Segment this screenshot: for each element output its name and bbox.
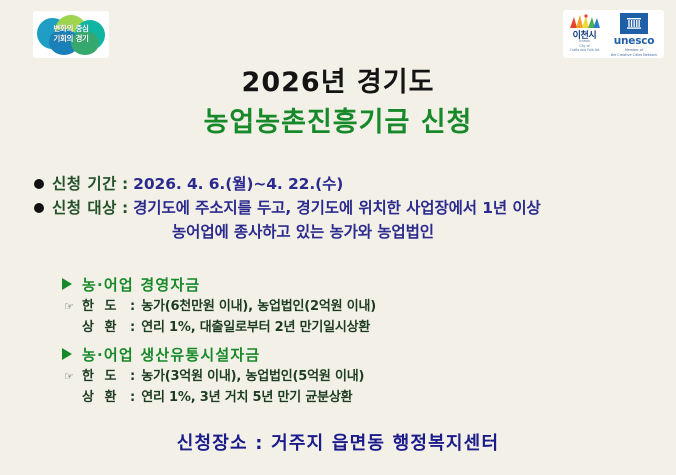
pointing-hand-icon: ☞ xyxy=(64,366,82,387)
fund-heading-management-capital: 농·어업 경영자금 xyxy=(62,272,662,296)
fund-line-repayment: 상 환 : 연리 1%, 대출일로부터 2년 만기일시상환 xyxy=(62,317,662,338)
fund-line-key: 상 환 xyxy=(82,317,130,338)
fund-line-limit: ☞ 한 도 : 농가(3억원 이내), 농업법인(5억원 이내) xyxy=(62,366,662,387)
fund-line-colon: : xyxy=(130,387,141,408)
bullet-value-continuation: 농어업에 종사하고 있는 농가와 농업법인 xyxy=(34,220,654,244)
unesco-subtitle: Member of the Creative Cities Network xyxy=(606,48,662,57)
fund-line-colon: : xyxy=(130,366,141,387)
fund-line-value: 연리 1%, 3년 거치 5년 만기 균분상환 xyxy=(141,387,352,408)
bullet-value: 경기도에 주소지를 두고, 경기도에 위치한 사업장에서 1년 이상 xyxy=(133,196,541,220)
bullet-separator: : xyxy=(117,196,133,220)
fund-line-limit: ☞ 한 도 : 농가(6천만원 이내), 농업법인(2억원 이내) xyxy=(62,296,662,317)
bullet-dot-icon xyxy=(34,179,44,189)
unesco-wordmark: unesco xyxy=(606,35,662,47)
fund-line-key: 한 도 xyxy=(82,366,130,387)
bullet-label: 신청 기간 xyxy=(52,172,117,196)
application-location-footer: 신청장소 : 거주지 읍면동 행정복지센터 xyxy=(0,429,676,455)
bullet-value: 2026. 4. 6.(월)~4. 22.(수) xyxy=(133,172,343,196)
bullet-label: 신청 대상 xyxy=(52,196,117,220)
unesco-sub-line2: the Creative Cities Network xyxy=(606,53,662,58)
poster-canvas: 변화의 중심 기회의 경기 이천시 Icheon City of Crafts … xyxy=(0,0,676,475)
triangle-right-icon xyxy=(62,278,72,290)
fund-sections: 농·어업 경영자금 ☞ 한 도 : 농가(6천만원 이내), 농업법인(2억원 … xyxy=(62,272,662,408)
unesco-logo: unesco Member of the Creative Cities Net… xyxy=(606,10,662,58)
gyeonggi-logo-text: 변화의 중심 기회의 경기 xyxy=(33,24,109,43)
gyeonggi-logo-line2: 기회의 경기 xyxy=(33,34,109,44)
poster-title-line2: 농업농촌진흥기금 신청 xyxy=(0,100,676,139)
fund-line-value: 농가(6천만원 이내), 농업법인(2억원 이내) xyxy=(141,296,376,317)
poster-title-line1: 2026년 경기도 xyxy=(0,60,676,99)
bullet-item-eligibility: 신청 대상 : 경기도에 주소지를 두고, 경기도에 위치한 사업장에서 1년 … xyxy=(34,196,654,220)
fund-heading-label: 농·어업 경영자금 xyxy=(82,274,200,295)
bullet-dot-icon xyxy=(34,203,44,213)
pointing-hand-icon: ☞ xyxy=(64,296,82,317)
right-logo-group: 이천시 Icheon City of Crafts and Folk Art xyxy=(563,10,664,58)
icheon-sub-line3: Crafts and Folk Art xyxy=(563,48,606,53)
fund-line-value: 연리 1%, 대출일로부터 2년 만기일시상환 xyxy=(141,317,370,338)
gyeonggi-logo-line1: 변화의 중심 xyxy=(33,24,109,34)
fund-heading-label: 농·어업 생산유통시설자금 xyxy=(82,344,260,365)
fund-heading-production-distribution-facility: 농·어업 생산유통시설자금 xyxy=(62,342,662,366)
fund-line-colon: : xyxy=(130,296,141,317)
icheon-city-logo: 이천시 Icheon City of Crafts and Folk Art xyxy=(563,10,606,58)
icheon-rays-icon xyxy=(568,14,602,29)
bullet-item-application-period: 신청 기간 : 2026. 4. 6.(월)~4. 22.(수) xyxy=(34,172,654,196)
fund-line-repayment: 상 환 : 연리 1%, 3년 거치 5년 만기 균분상환 xyxy=(62,387,662,408)
fund-line-value: 농가(3억원 이내), 농업법인(5억원 이내) xyxy=(141,366,364,387)
gyeonggi-logo: 변화의 중심 기회의 경기 xyxy=(33,11,109,58)
bullet-separator: : xyxy=(117,172,133,196)
fund-line-key: 한 도 xyxy=(82,296,130,317)
unesco-emblem-box xyxy=(620,13,648,34)
triangle-right-icon xyxy=(62,348,72,360)
info-bullet-list: 신청 기간 : 2026. 4. 6.(월)~4. 22.(수) 신청 대상 :… xyxy=(34,172,654,244)
icheon-logo-sub: Icheon City of Crafts and Folk Art xyxy=(563,39,606,53)
fund-line-colon: : xyxy=(130,317,141,338)
fund-line-key: 상 환 xyxy=(82,387,130,408)
unesco-temple-icon xyxy=(627,17,642,30)
